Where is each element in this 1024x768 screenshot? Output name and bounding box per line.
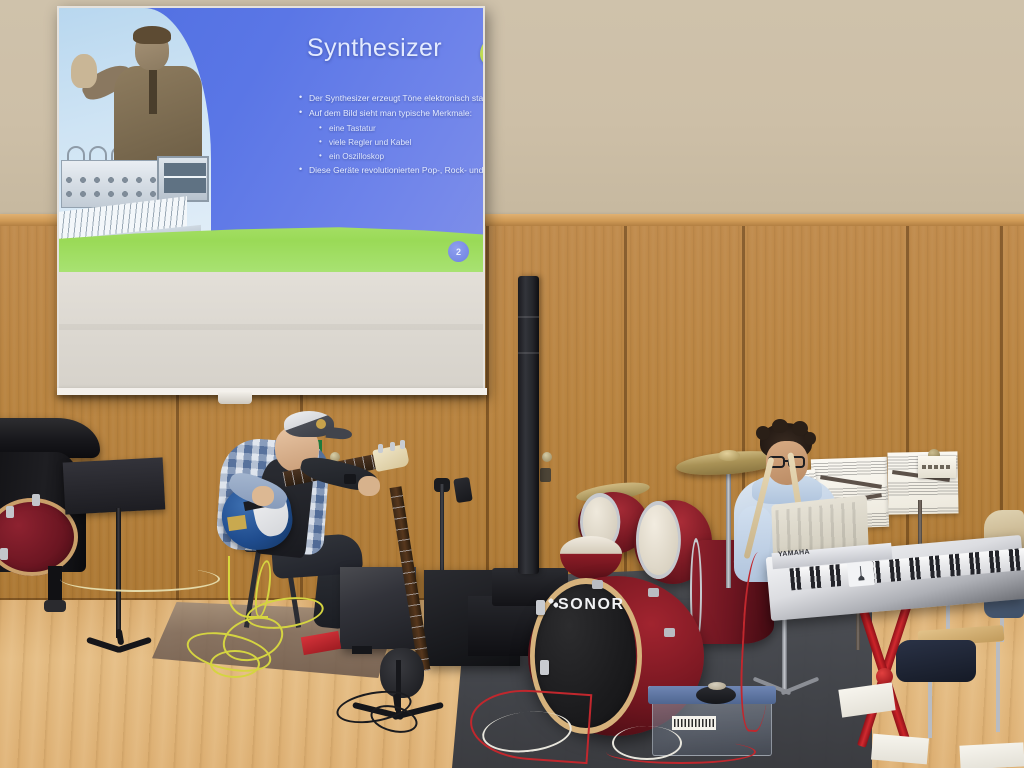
white-cable — [60, 566, 220, 592]
paper-on-floor — [959, 742, 1024, 768]
slide-illustration — [59, 8, 211, 253]
slide-bullet: Diese Geräte revolutionierten Pop-, Rock… — [299, 165, 483, 176]
piano-caster — [44, 600, 66, 612]
bass-drum-claw — [592, 580, 603, 589]
tape-roll-core — [708, 682, 726, 690]
bass-drum-claw — [648, 588, 659, 597]
illustration-suit-body — [114, 66, 202, 166]
drum-lug — [32, 494, 40, 506]
door-lock-plate — [540, 468, 551, 482]
tuning-peg — [390, 442, 395, 451]
slide-page-number: 2 — [448, 241, 469, 262]
slide-sub-bullet: ein Oszilloskop — [299, 151, 483, 162]
wristwatch — [344, 474, 356, 484]
waveform-trace — [164, 176, 206, 178]
rehearsal-hall-photo: Synthesizer musik schule im Landkreis De… — [0, 0, 1024, 768]
projection-screen-blank-area — [59, 272, 483, 390]
hair-curl — [772, 419, 788, 433]
oscilloscope-screen — [164, 163, 206, 193]
musikschule-logo: musik schule im Landkreis — [480, 33, 483, 71]
screen-bottom-weight-bar — [57, 388, 487, 395]
illustration-raised-hand — [71, 54, 97, 88]
paper-on-floor — [871, 734, 929, 765]
bass-drum-lug — [540, 660, 549, 675]
door-knob-icon[interactable] — [542, 452, 552, 462]
cymbal-stand[interactable] — [726, 462, 731, 588]
piano-leg — [48, 566, 62, 604]
tom-rim — [636, 501, 681, 579]
drum-lug — [6, 506, 14, 518]
illustration-hair — [133, 26, 171, 44]
speaker-module-seam — [518, 316, 539, 318]
chair-leg — [996, 642, 1000, 732]
bass-drum-claw — [664, 628, 675, 637]
bassist-plucking-hand — [252, 486, 274, 506]
drum-lug — [0, 548, 8, 560]
speaker-module-seam — [518, 352, 539, 354]
pa-column-speaker — [518, 276, 539, 574]
slide-sub-bullet: viele Regler und Kabel — [299, 137, 483, 148]
cap-logo-patch — [316, 419, 326, 429]
tuning-peg — [400, 440, 405, 449]
bass-bridge — [227, 515, 247, 531]
slide-bullet: Auf dem Bild sieht man typische Merkmale… — [299, 108, 483, 119]
bassist-fretting-hand — [358, 476, 380, 496]
presentation-slide: Synthesizer musik schule im Landkreis De… — [59, 8, 483, 272]
keyboard-sticker — [847, 561, 875, 587]
slide-bullet: Der Synthesizer erzeugt Töne elektronisc… — [299, 93, 483, 104]
illustration-necktie — [149, 70, 157, 114]
white-cable — [612, 726, 682, 760]
music-stand-tripod-base — [86, 632, 154, 654]
slide-sub-bullet: eine Tastatur — [299, 123, 483, 134]
tuning-peg — [378, 444, 383, 453]
hair-curl — [756, 426, 770, 440]
illustration-oscilloscope — [157, 156, 209, 202]
illustration-synth-knobs — [63, 174, 163, 204]
dark-bag — [896, 640, 976, 682]
screen-roller-handle[interactable] — [218, 392, 252, 404]
amp-foot — [352, 646, 372, 654]
slide-bullet-list: Der Synthesizer erzeugt Töne elektronisc… — [299, 93, 483, 181]
sonor-logo-mark — [548, 598, 558, 610]
sonor-brand-logo: SONOR — [558, 596, 625, 614]
bass-drum-lug — [536, 600, 545, 615]
hair-curl — [804, 432, 816, 445]
cymbal-bell — [718, 450, 740, 461]
wall-card-text-lines — [922, 465, 952, 469]
music-stand-desk[interactable] — [63, 457, 166, 514]
crate-barcode-label — [672, 716, 716, 730]
slide-title: Synthesizer — [307, 34, 442, 63]
yellow-cable-loop — [210, 650, 260, 678]
